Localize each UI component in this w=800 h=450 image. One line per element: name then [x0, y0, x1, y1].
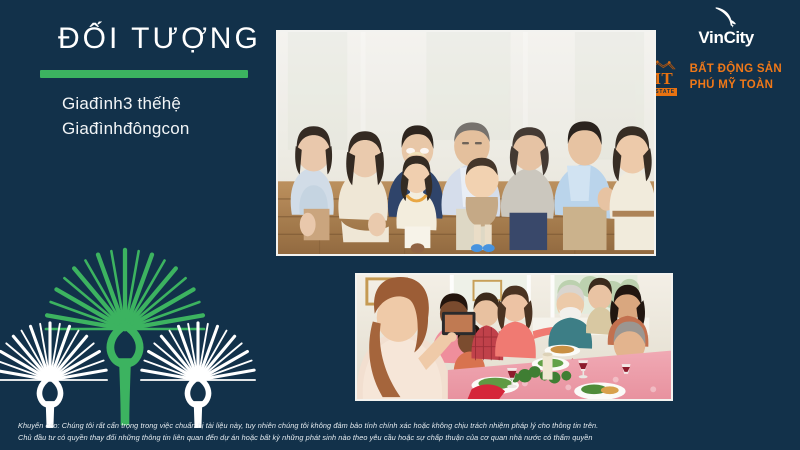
fan-tree-center: [46, 250, 204, 425]
slide-root: ĐỐI TƯỢNG Giađình3 thếhệ Giađìnhđôngcon …: [0, 0, 800, 450]
pmt-tagline-line-1: BẤT ĐỘNG SẢN: [690, 62, 782, 78]
subtitle-line-1: Giađình3 thếhệ: [62, 92, 190, 117]
pmt-tagline: BẤT ĐỘNG SẢN PHÚ MỸ TOÀN: [690, 62, 782, 93]
pmt-tagline-line-2: PHÚ MỸ TOÀN: [690, 78, 782, 94]
bird-icon: [713, 6, 739, 28]
footer-line-2: Chủ đầu tư có quyền thay đổi những thông…: [18, 432, 786, 444]
fan-tree-right: [141, 323, 255, 428]
vincity-wordmark-city: City: [724, 28, 754, 47]
family-photo-main: [276, 30, 656, 256]
title-underline-rule: [40, 70, 248, 78]
vincity-wordmark: VinCity: [698, 29, 753, 46]
footer-disclaimer: Khuyến cáo: Chúng tôi rất cẩn trọng tron…: [18, 420, 786, 444]
subtitle-line-2: Giađìnhđôngcon: [62, 117, 190, 142]
vincity-wordmark-vin: Vin: [698, 28, 723, 47]
page-title: ĐỐI TƯỢNG: [58, 22, 261, 55]
subtitle-block: Giađình3 thếhệ Giađìnhđôngcon: [62, 92, 190, 141]
fan-tree-left: [0, 323, 107, 428]
vincity-logo: VinCity: [672, 6, 780, 52]
fan-tree-decoration: [0, 243, 290, 428]
family-dinner-photo: [355, 273, 673, 401]
footer-line-1: Khuyến cáo: Chúng tôi rất cẩn trọng tron…: [18, 420, 786, 432]
